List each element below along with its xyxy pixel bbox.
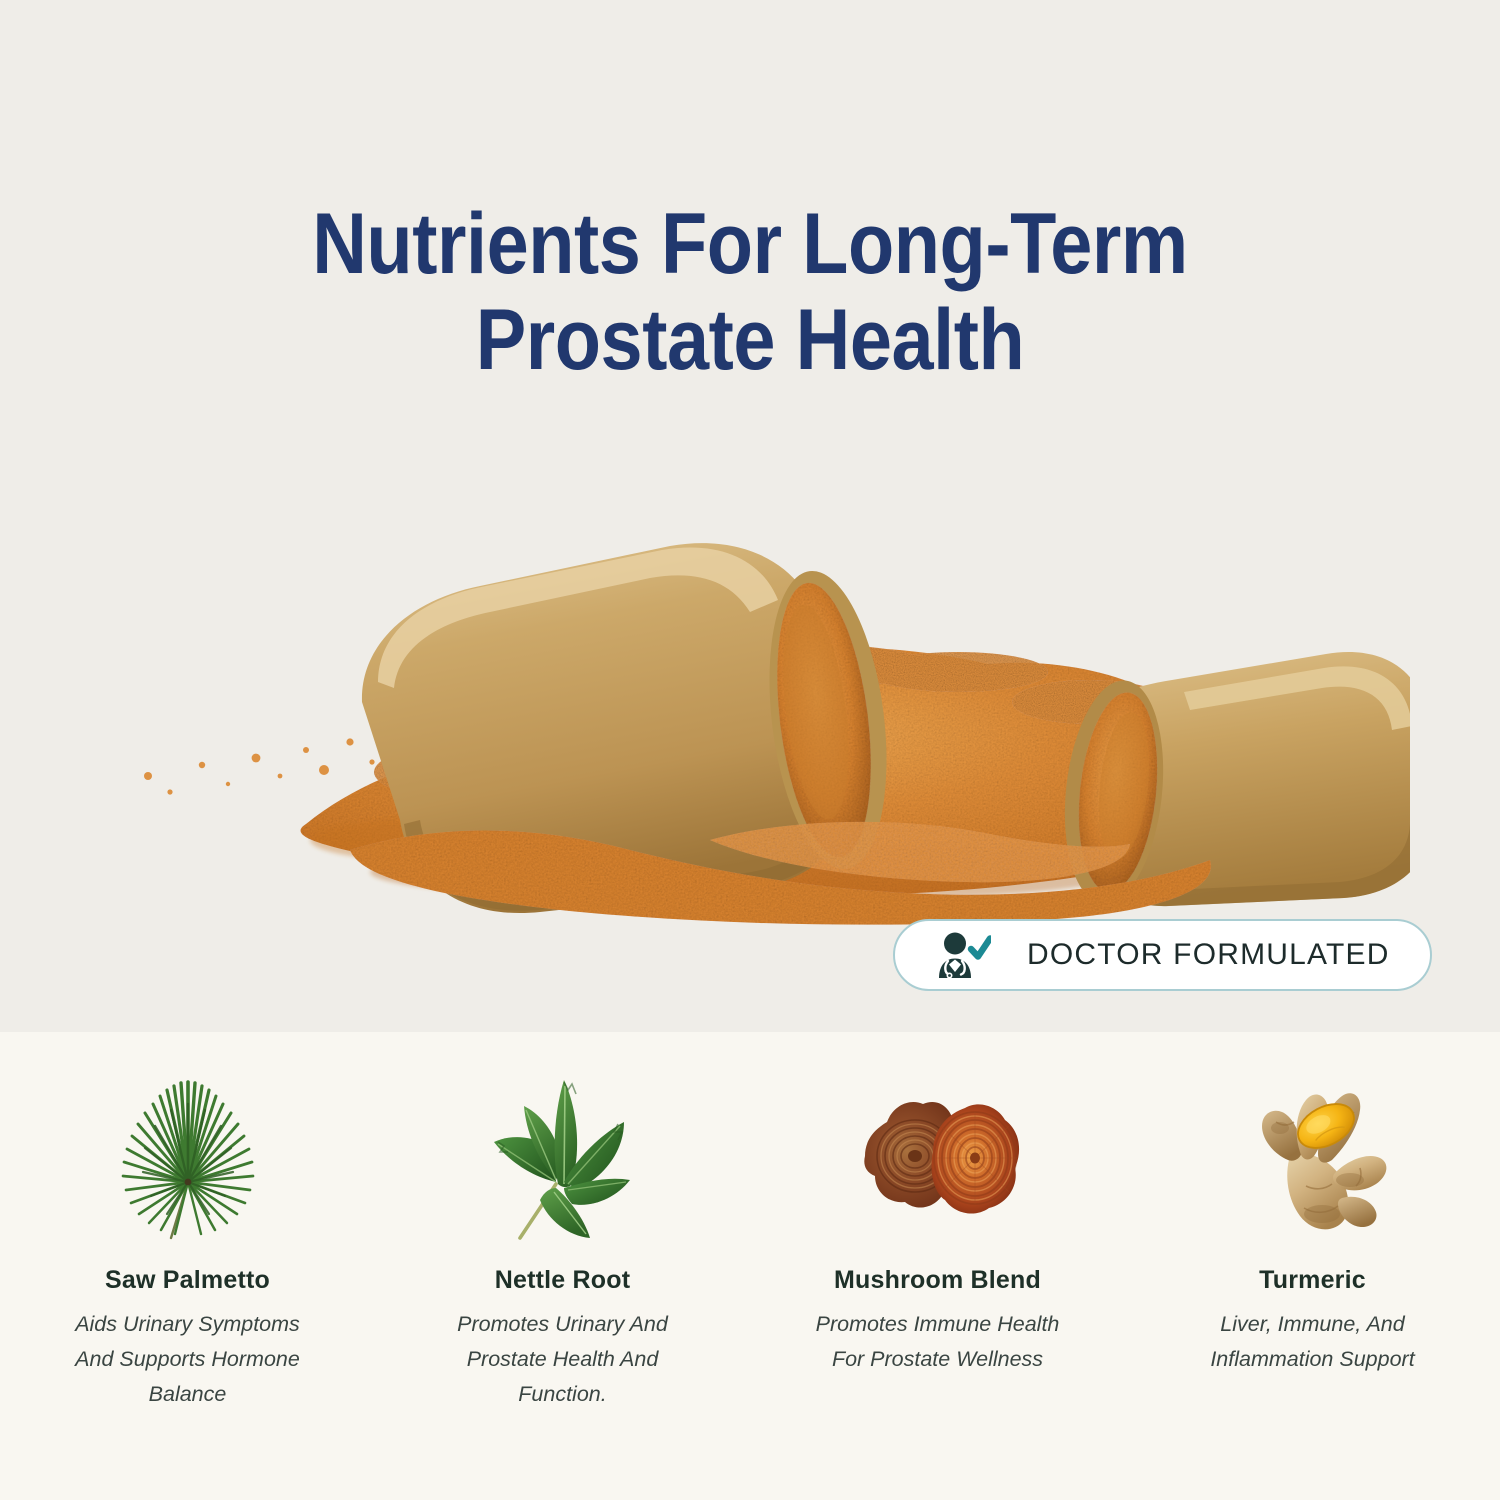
hero-section: Nutrients For Long-Term Prostate Health bbox=[0, 0, 1500, 1032]
ingredient-turmeric: Turmeric Liver, Immune, And Inflammation… bbox=[1125, 1032, 1500, 1500]
doctor-formulated-badge[interactable]: DOCTOR FORMULATED bbox=[893, 919, 1432, 991]
nettle-leaf-icon bbox=[468, 1064, 658, 1244]
saw-palmetto-frond-icon bbox=[93, 1064, 283, 1244]
ingredient-name: Mushroom Blend bbox=[834, 1266, 1041, 1295]
ingredient-saw-palmetto: Saw Palmetto Aids Urinary Symptoms And S… bbox=[0, 1032, 375, 1500]
capsule-half-right bbox=[1055, 652, 1410, 908]
turmeric-root-icon bbox=[1218, 1064, 1408, 1244]
ingredient-description: Promotes Immune Health For Prostate Well… bbox=[810, 1307, 1065, 1377]
ingredient-name: Turmeric bbox=[1259, 1266, 1366, 1295]
ingredient-description: Aids Urinary Symptoms And Supports Hormo… bbox=[60, 1307, 315, 1411]
reishi-mushroom-icon bbox=[843, 1064, 1033, 1244]
ingredient-mushroom-blend: Mushroom Blend Promotes Immune Health Fo… bbox=[750, 1032, 1125, 1500]
product-hero-image bbox=[110, 420, 1410, 940]
ingredients-section: Saw Palmetto Aids Urinary Symptoms And S… bbox=[0, 1032, 1500, 1500]
ingredient-nettle-root: Nettle Root Promotes Urinary And Prostat… bbox=[375, 1032, 750, 1500]
ingredient-description: Promotes Urinary And Prostate Health And… bbox=[435, 1307, 690, 1411]
doctor-check-icon bbox=[933, 930, 991, 980]
badge-label: DOCTOR FORMULATED bbox=[1027, 938, 1390, 972]
ingredient-name: Nettle Root bbox=[495, 1266, 631, 1295]
ingredient-name: Saw Palmetto bbox=[105, 1266, 270, 1295]
page-title: Nutrients For Long-Term Prostate Health bbox=[90, 196, 1410, 389]
ingredient-description: Liver, Immune, And Inflammation Support bbox=[1185, 1307, 1440, 1377]
product-infographic: Nutrients For Long-Term Prostate Health bbox=[0, 0, 1500, 1500]
